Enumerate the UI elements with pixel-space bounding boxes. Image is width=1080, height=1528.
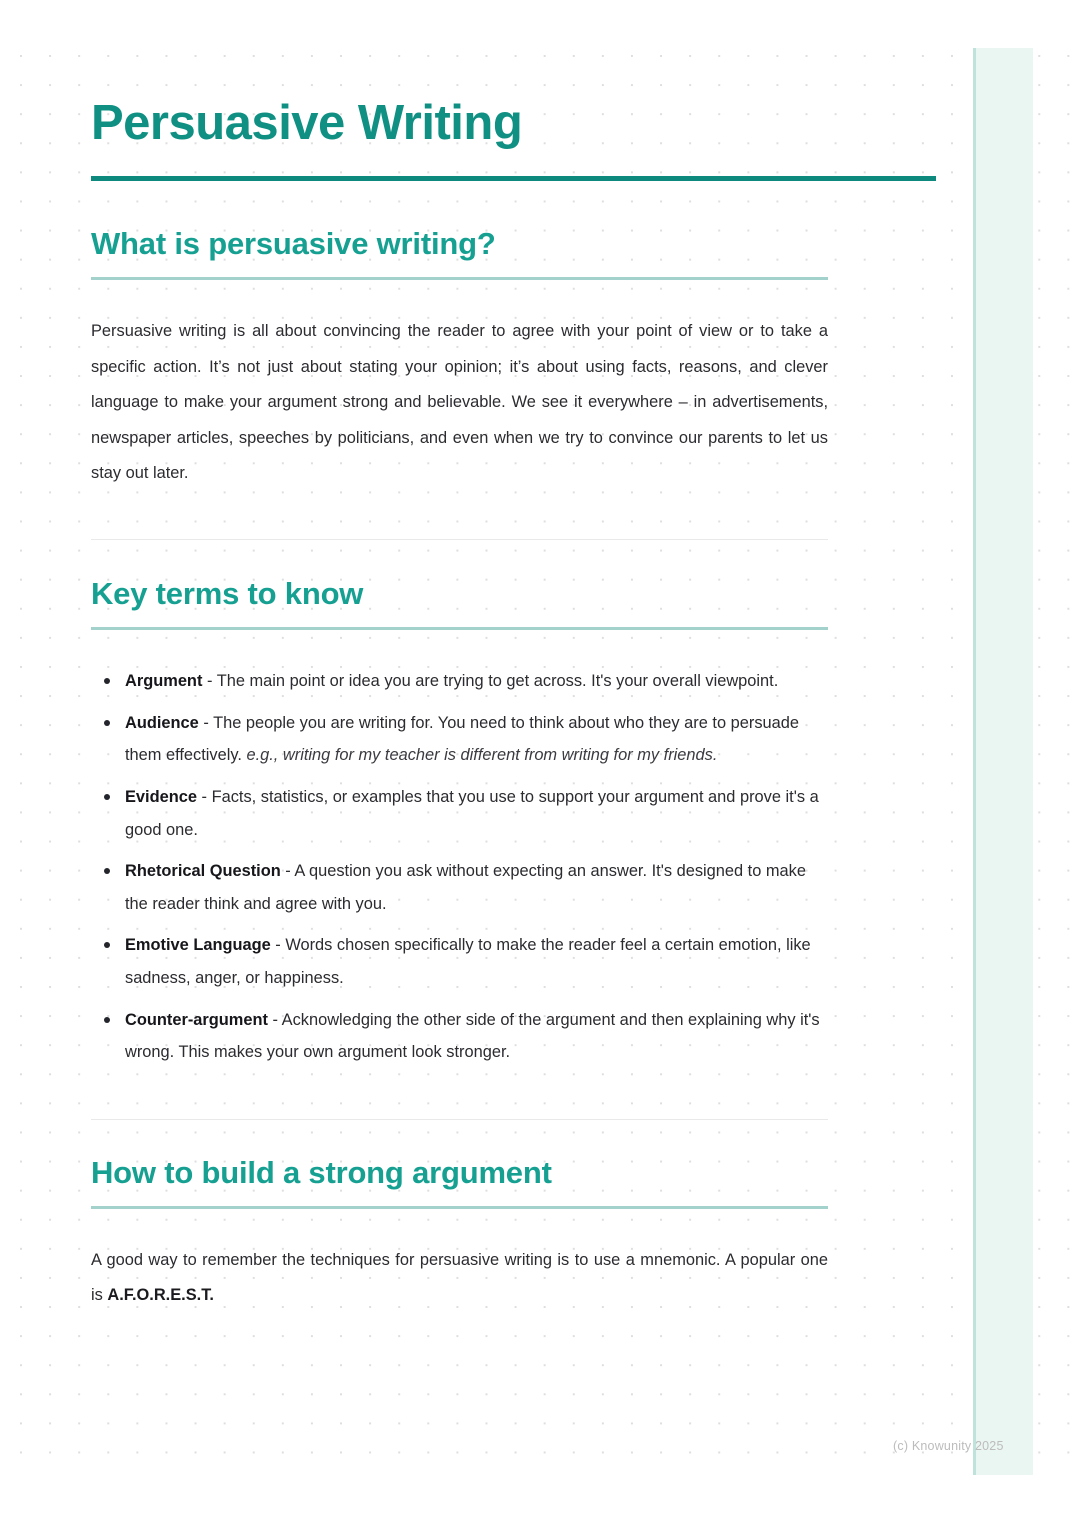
term-dash: - [281, 862, 295, 880]
right-edge-band [973, 48, 1033, 1475]
section-heading-intro: What is persuasive writing? [91, 227, 828, 261]
term-name: Counter-argument [125, 1011, 268, 1029]
term-definition: Facts, statistics, or examples that you … [125, 788, 819, 839]
spacer [91, 1120, 828, 1156]
spacer [91, 1209, 828, 1243]
list-item: Counter-argument - Acknowledging the oth… [91, 1004, 828, 1069]
term-name: Argument [125, 672, 202, 690]
section-build-argument: How to build a strong argument A good wa… [91, 1156, 828, 1314]
term-name: Audience [125, 714, 199, 732]
document-content: Persuasive Writing What is persuasive wr… [91, 0, 828, 1314]
term-dash: - [268, 1011, 282, 1029]
bullet-icon [104, 794, 110, 800]
section-heading-build-argument: How to build a strong argument [91, 1156, 828, 1190]
spacer [91, 181, 828, 227]
term-dash: - [202, 672, 216, 690]
document-page: Persuasive Writing What is persuasive wr… [0, 0, 1080, 1528]
list-item: Evidence - Facts, statistics, or example… [91, 781, 828, 846]
section-heading-key-terms: Key terms to know [91, 577, 828, 611]
bullet-icon [104, 942, 110, 948]
section-intro: What is persuasive writing? Persuasive w… [91, 227, 828, 492]
copyright-watermark: (c) Knowunity 2025 [893, 1439, 1004, 1453]
term-dash: - [199, 714, 213, 732]
spacer [91, 540, 828, 577]
spacer [91, 492, 828, 539]
bullet-icon [104, 868, 110, 874]
mnemonic-label: A.F.O.R.E.S.T. [107, 1286, 214, 1304]
list-item: Audience - The people you are writing fo… [91, 707, 828, 772]
section-key-terms: Key terms to know Argument - The main po… [91, 577, 828, 1069]
bullet-icon [104, 678, 110, 684]
term-name: Rhetorical Question [125, 862, 281, 880]
spacer [91, 280, 828, 314]
term-definition: The main point or idea you are trying to… [217, 672, 779, 690]
bullet-icon [104, 1017, 110, 1023]
bullet-icon [104, 720, 110, 726]
term-dash: - [271, 936, 286, 954]
term-name: Emotive Language [125, 936, 271, 954]
list-item: Emotive Language - Words chosen specific… [91, 929, 828, 994]
spacer [91, 630, 828, 665]
intro-paragraph: Persuasive writing is all about convinci… [91, 314, 828, 492]
page-title: Persuasive Writing [91, 99, 828, 148]
term-name: Evidence [125, 788, 197, 806]
key-terms-list: Argument - The main point or idea you ar… [91, 665, 828, 1069]
term-emphasis: e.g., writing for my teacher is differen… [246, 746, 717, 764]
list-item: Argument - The main point or idea you ar… [91, 665, 828, 698]
build-argument-paragraph: A good way to remember the techniques fo… [91, 1243, 828, 1314]
list-item: Rhetorical Question - A question you ask… [91, 855, 828, 920]
term-dash: - [197, 788, 212, 806]
spacer [91, 1078, 828, 1119]
